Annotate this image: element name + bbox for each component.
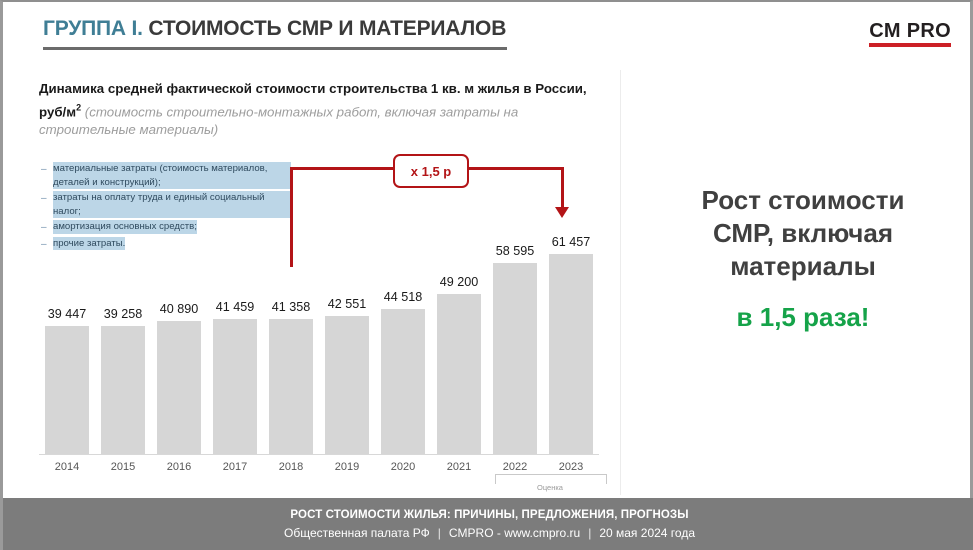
bar-column: 49 200 xyxy=(437,202,481,454)
bar-column: 58 595 xyxy=(493,202,537,454)
bar-value-label: 49 200 xyxy=(440,275,479,289)
callout-connector-left-vertical xyxy=(290,167,293,267)
list-item-label: материальные затраты (стоимость материал… xyxy=(53,162,291,189)
page-title: ГРУППА I. СТОИМОСТЬ СМР И МАТЕРИАЛОВ xyxy=(43,16,943,42)
summary-accent-line: в 1,5 раза! xyxy=(643,301,963,334)
x-axis-tick-label: 2021 xyxy=(431,461,487,473)
callout-arrow-icon xyxy=(555,207,569,218)
bar-column: 40 890 xyxy=(157,202,201,454)
chart-axis-line xyxy=(39,454,599,455)
page-title-rest: СТОИМОСТЬ СМР И МАТЕРИАЛОВ xyxy=(143,17,506,40)
slide-header: ГРУППА I. СТОИМОСТЬ СМР И МАТЕРИАЛОВ CM … xyxy=(43,16,943,58)
bar-rect xyxy=(101,326,145,454)
bar-column: 39 447 xyxy=(45,202,89,454)
slide-footer: РОСТ СТОИМОСТИ ЖИЛЬЯ: ПРИЧИНЫ, ПРЕДЛОЖЕН… xyxy=(3,498,973,550)
bar-value-label: 39 447 xyxy=(48,307,87,321)
footer-headline: РОСТ СТОИМОСТИ ЖИЛЬЯ: ПРИЧИНЫ, ПРЕДЛОЖЕН… xyxy=(290,507,688,524)
bar-rect xyxy=(45,326,89,454)
x-axis-tick-label: 2022 xyxy=(487,461,543,473)
footer-source: CMPRO - www.cmpro.ru xyxy=(449,526,580,540)
x-axis-tick-label: 2019 xyxy=(319,461,375,473)
x-axis-tick-label: 2018 xyxy=(263,461,319,473)
bar-value-label: 41 358 xyxy=(272,300,311,314)
bar-value-label: 44 518 xyxy=(384,290,423,304)
estimate-label: Оценка xyxy=(495,483,605,492)
bar-column: 44 518 xyxy=(381,202,425,454)
bar-value-label: 42 551 xyxy=(328,297,367,311)
bar-value-label: 40 890 xyxy=(160,302,199,316)
summary-line-1: Рост стоимости xyxy=(643,184,963,217)
callout-connector-right-vertical xyxy=(561,167,564,209)
summary-panel: Рост стоимости СМР, включая материалы в … xyxy=(643,184,963,334)
callout-connector-right-horizontal xyxy=(463,167,564,170)
bar-rect xyxy=(437,294,481,454)
panel-divider xyxy=(620,70,621,495)
bar-rect xyxy=(549,254,593,454)
footer-meta: Общественная палата РФ|CMPRO - www.cmpro… xyxy=(284,524,695,542)
bar-rect xyxy=(381,309,425,454)
list-item: – материальные затраты (стоимость матери… xyxy=(41,162,291,189)
page-title-prefix: ГРУППА I. xyxy=(43,17,143,40)
bar-value-label: 39 258 xyxy=(104,307,143,321)
slide-root: ГРУППА I. СТОИМОСТЬ СМР И МАТЕРИАЛОВ CM … xyxy=(0,0,973,550)
footer-separator: | xyxy=(430,526,449,540)
bar-column: 42 551 xyxy=(325,202,369,454)
growth-multiplier-callout: x 1,5 р xyxy=(393,154,469,188)
brand-logo: CM PRO xyxy=(869,20,951,47)
x-axis-tick-label: 2014 xyxy=(39,461,95,473)
bar-rect xyxy=(269,319,313,454)
bar-value-label: 61 457 xyxy=(552,235,591,249)
bar-chart: 39 44739 25840 89041 45941 35842 55144 5… xyxy=(39,202,599,454)
x-axis-tick-label: 2023 xyxy=(543,461,599,473)
x-axis-tick-label: 2017 xyxy=(207,461,263,473)
bar-rect xyxy=(325,316,369,454)
x-axis-tick-label: 2020 xyxy=(375,461,431,473)
chart-subtitle: Динамика средней фактической стоимости с… xyxy=(39,80,614,140)
bullet-dash-icon: – xyxy=(41,162,53,177)
bar-column: 61 457 xyxy=(549,202,593,454)
callout-connector-left-horizontal xyxy=(290,167,395,170)
bar-rect xyxy=(213,319,257,454)
summary-line-3: материалы xyxy=(643,250,963,283)
bar-column: 41 459 xyxy=(213,202,257,454)
bar-column: 39 258 xyxy=(101,202,145,454)
summary-line-2: СМР, включая xyxy=(643,217,963,250)
bar-rect xyxy=(157,321,201,454)
footer-date: 20 мая 2024 года xyxy=(599,526,695,540)
brand-logo-text: CM PRO xyxy=(869,20,951,42)
bar-value-label: 58 595 xyxy=(496,244,535,258)
x-axis-tick-label: 2015 xyxy=(95,461,151,473)
footer-org: Общественная палата РФ xyxy=(284,526,430,540)
bar-rect xyxy=(493,263,537,454)
footer-separator: | xyxy=(580,526,599,540)
chart-subtitle-note: (стоимость строительно-монтажных работ, … xyxy=(39,104,518,138)
brand-logo-underline xyxy=(869,43,951,47)
bar-value-label: 41 459 xyxy=(216,300,255,314)
x-axis-tick-label: 2016 xyxy=(151,461,207,473)
title-underline xyxy=(43,47,507,50)
